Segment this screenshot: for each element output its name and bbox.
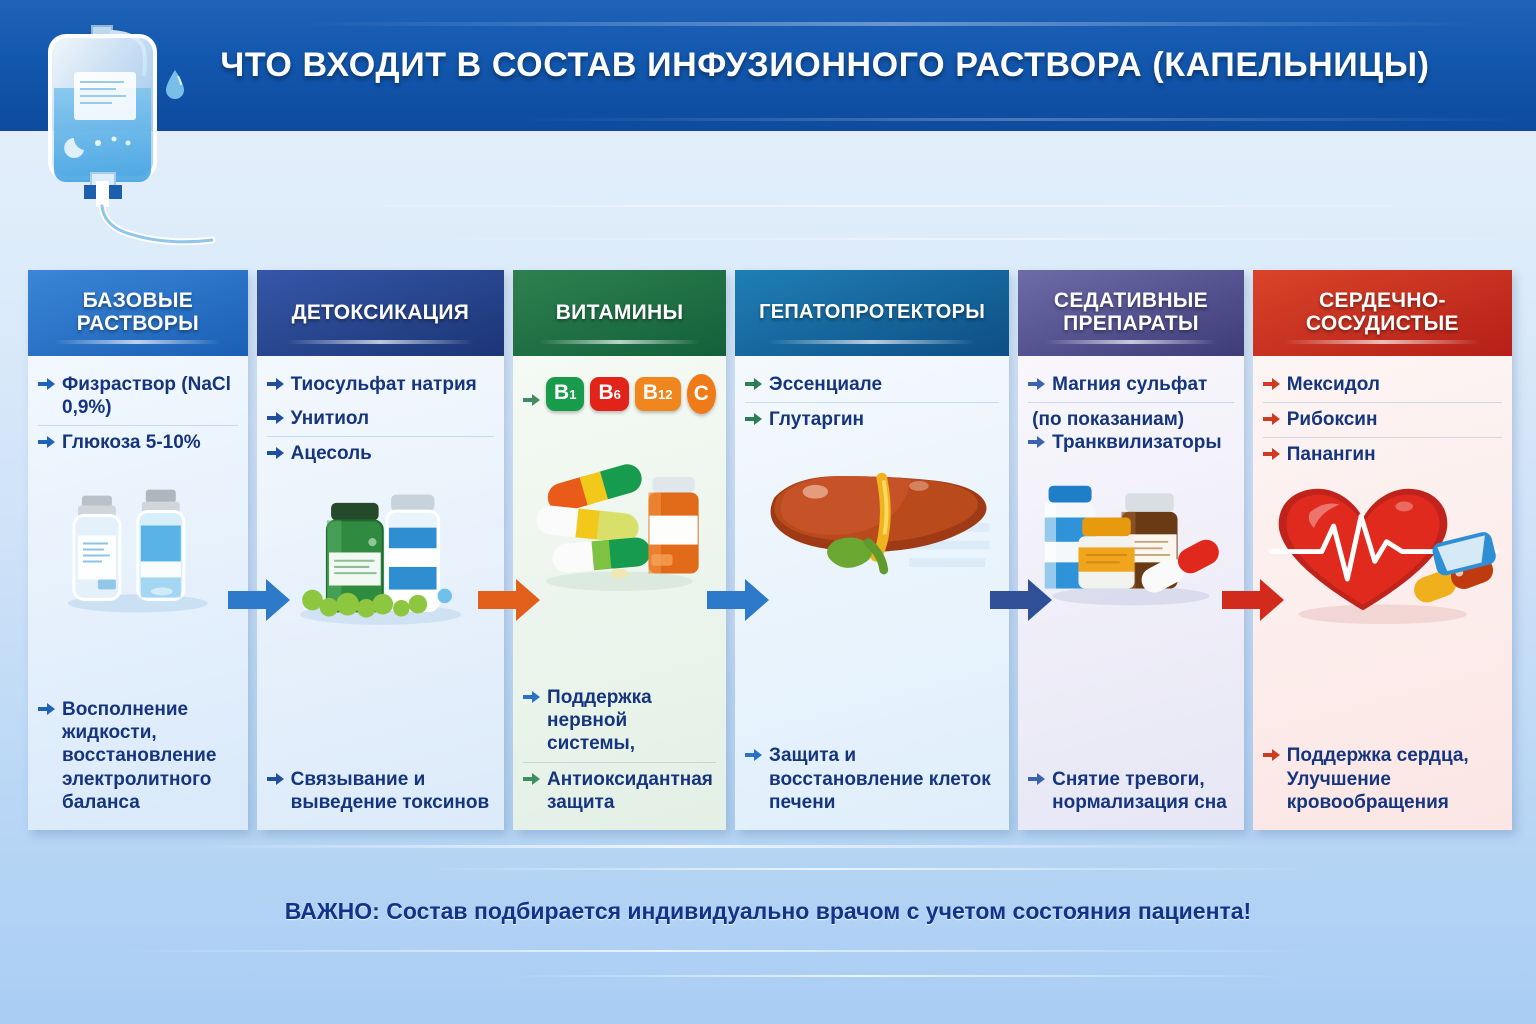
benefit-item: Антиоксидантная защита: [523, 763, 716, 820]
list-item[interactable]: Рибоксин: [1263, 403, 1502, 438]
bullet-arrow-icon: [1263, 377, 1280, 391]
list-item[interactable]: Ацесоль: [267, 437, 494, 471]
list-item[interactable]: Эссенциале: [745, 368, 999, 403]
bullet-arrow-icon: [38, 702, 55, 716]
drug-name: Глюкоза 5-10%: [62, 431, 238, 454]
bullet-arrow-icon: [745, 412, 762, 426]
drug-name: Эссенциале: [769, 373, 999, 396]
card-vitamins[interactable]: ВИТАМИНЫ B1 B6 B12 C: [513, 270, 726, 830]
benefit-list-base-solutions: Восполнение жидкости, восстановление эле…: [38, 693, 238, 820]
vitamin-badge-b6: B6: [590, 377, 628, 411]
drug-name: Панангин: [1287, 443, 1502, 466]
bullet-arrow-icon: [267, 772, 284, 786]
artwork-capsules-and-bottle: [523, 426, 716, 611]
benefit-text: Защита и восстановление клеток печени: [769, 744, 999, 814]
drug-name: Рибоксин: [1287, 408, 1502, 431]
drug-name: Тиосульфат натрия: [291, 373, 494, 396]
drug-name: Унитиол: [291, 407, 494, 430]
benefit-item: Снятие тревоги, нормализация сна: [1028, 763, 1234, 820]
card-base-solutions[interactable]: БАЗОВЫЕ РАСТВОРЫ Физраствор (NaCl 0,9%) …: [28, 270, 248, 830]
benefit-text: Поддержка сердца, Улучшение кровообращен…: [1287, 744, 1502, 814]
list-item[interactable]: Магния сульфат: [1028, 368, 1234, 403]
benefit-text: Поддержка нервной системы,: [547, 686, 716, 756]
benefit-item: Поддержка нервной системы,: [523, 681, 716, 763]
bullet-arrow-icon: [38, 377, 55, 391]
drug-list-sedatives: Магния сульфат (по показаниам) Транквили…: [1028, 368, 1234, 461]
connector-arrow-3: [707, 577, 771, 623]
bullet-arrow-icon: [1028, 772, 1045, 786]
drug-name: Мексидол: [1287, 373, 1502, 396]
list-item[interactable]: Тиосульфат натрия: [267, 368, 494, 402]
bullet-arrow-icon: [267, 377, 284, 391]
vitamin-badge-b12: B12: [635, 377, 681, 411]
benefit-list-detox: Связывание и выведение токсинов: [267, 763, 494, 820]
benefit-item: Защита и восстановление клеток печени: [745, 739, 999, 820]
vitamin-badge-b1: B1: [546, 377, 584, 411]
header-line-2: ПРЕПАРАТЫ: [1054, 313, 1208, 336]
list-item[interactable]: Панангин: [1263, 438, 1502, 472]
benefit-item: Связывание и выведение токсинов: [267, 763, 494, 820]
artwork-pill-bottles-capsule: [1028, 465, 1234, 613]
bullet-arrow-icon: [267, 411, 284, 425]
card-body-vitamins: B1 B6 B12 C: [513, 356, 726, 830]
bullet-arrow-icon: [745, 748, 762, 762]
footer-note: ВАЖНО: Состав подбирается индивидуально …: [0, 888, 1536, 934]
list-item[interactable]: Физраствор (NaCl 0,9%): [38, 368, 238, 426]
artwork-liver: [745, 441, 999, 609]
card-hepatoprotectors[interactable]: ГЕПАТОПРОТЕКТОРЫ Эссенциале Глутаргин: [735, 270, 1009, 830]
connector-arrow-5: [1222, 577, 1286, 623]
list-item-note: (по показаниам): [1028, 403, 1234, 431]
drug-name: Магния сульфат: [1052, 373, 1234, 396]
list-item[interactable]: Мексидол: [1263, 368, 1502, 403]
connector-arrow-2: [478, 577, 542, 623]
header-line-1: ДЕТОКСИКАЦИЯ: [292, 302, 470, 325]
bullet-arrow-icon: [267, 446, 284, 460]
header-line-2: РАСТВОРЫ: [77, 313, 199, 336]
drug-list-base-solutions: Физраствор (NaCl 0,9%) Глюкоза 5-10%: [38, 368, 238, 461]
drug-list-hepatoprotectors: Эссенциале Глутаргин: [745, 368, 999, 437]
card-header-hepatoprotectors: ГЕПАТОПРОТЕКТОРЫ: [735, 270, 1009, 356]
card-body-hepatoprotectors: Эссенциале Глутаргин: [735, 356, 1009, 830]
card-detox[interactable]: ДЕТОКСИКАЦИЯ Тиосульфат натрия Унитиол А…: [257, 270, 504, 830]
card-body-cardiovascular: Мексидол Рибоксин Панангин: [1253, 356, 1512, 830]
benefit-list-sedatives: Снятие тревоги, нормализация сна: [1028, 763, 1234, 820]
card-header-detox: ДЕТОКСИКАЦИЯ: [257, 270, 504, 356]
bullet-arrow-icon: [1028, 435, 1045, 449]
drug-list-detox: Тиосульфат натрия Унитиол Ацесоль: [267, 368, 494, 472]
benefit-text: Снятие тревоги, нормализация сна: [1052, 768, 1234, 814]
card-header-vitamins: ВИТАМИНЫ: [513, 270, 726, 356]
artwork-two-glass-vials: [38, 465, 238, 620]
drug-name: Физраствор (NaCl 0,9%): [62, 373, 238, 419]
benefit-text: Восполнение жидкости, восстановление эле…: [62, 698, 238, 814]
bullet-arrow-icon: [745, 377, 762, 391]
header-line-2: СОСУДИСТЫЕ: [1306, 313, 1459, 336]
connector-arrow-1: [228, 577, 292, 623]
header-line-1: ВИТАМИНЫ: [556, 302, 684, 325]
header-banner: ЧТО ВХОДИТ В СОСТАВ ИНФУЗИОННОГО РАСТВОР…: [0, 0, 1536, 131]
list-item[interactable]: Транквилизаторы: [1028, 431, 1234, 460]
category-cards-row: БАЗОВЫЕ РАСТВОРЫ Физраствор (NaCl 0,9%) …: [28, 270, 1512, 830]
card-sedatives[interactable]: СЕДАТИВНЫЕ ПРЕПАРАТЫ Магния сульфат (по …: [1018, 270, 1244, 830]
card-body-detox: Тиосульфат натрия Унитиол Ацесоль: [257, 356, 504, 830]
card-cardiovascular[interactable]: СЕРДЕЧНО- СОСУДИСТЫЕ Мексидол Рибоксин П…: [1253, 270, 1512, 830]
card-header-cardiovascular: СЕРДЕЧНО- СОСУДИСТЫЕ: [1253, 270, 1512, 356]
benefit-list-cardiovascular: Поддержка сердца, Улучшение кровообращен…: [1263, 739, 1502, 820]
drug-name: Транквилизаторы: [1052, 431, 1234, 454]
header-line-1: БАЗОВЫЕ: [77, 290, 199, 313]
benefit-list-vitamins: Поддержка нервной системы, Антиоксидантн…: [523, 681, 716, 820]
benefit-text: Связывание и выведение токсинов: [291, 768, 494, 814]
iv-drip-bag-icon: [16, 10, 216, 270]
list-item[interactable]: Унитиол: [267, 402, 494, 437]
benefit-item: Восполнение жидкости, восстановление эле…: [38, 693, 238, 820]
card-body-base-solutions: Физраствор (NaCl 0,9%) Глюкоза 5-10%: [28, 356, 248, 830]
page-title: ЧТО ВХОДИТ В СОСТАВ ИНФУЗИОННОГО РАСТВОР…: [200, 0, 1450, 131]
card-header-sedatives: СЕДАТИВНЫЕ ПРЕПАРАТЫ: [1018, 270, 1244, 356]
bullet-arrow-icon: [38, 435, 55, 449]
header-line-1: ГЕПАТОПРОТЕКТОРЫ: [759, 302, 985, 324]
bullet-arrow-icon: [1263, 447, 1280, 461]
header-line-1: СЕДАТИВНЫЕ: [1054, 290, 1208, 313]
header-line-1: СЕРДЕЧНО-: [1306, 290, 1459, 313]
bullet-arrow-icon: [1263, 412, 1280, 426]
benefit-text: Антиоксидантная защита: [547, 768, 716, 814]
list-item[interactable]: Глюкоза 5-10%: [38, 426, 238, 460]
drug-name: Ацесоль: [291, 442, 494, 465]
bullet-arrow-icon: [523, 393, 540, 407]
bullet-arrow-icon: [1263, 748, 1280, 762]
drug-list-cardiovascular: Мексидол Рибоксин Панангин: [1263, 368, 1502, 473]
note-text: (по показаниам): [1028, 408, 1234, 431]
drug-name: Глутаргин: [769, 408, 999, 431]
connector-arrow-4: [990, 577, 1054, 623]
benefit-list-hepatoprotectors: Защита и восстановление клеток печени: [745, 739, 999, 820]
vitamin-badges: B1 B6 B12 C: [523, 368, 716, 422]
artwork-heart-ecg-pills: [1263, 477, 1502, 629]
vitamin-badge-c: C: [687, 374, 717, 414]
list-item[interactable]: Глутаргин: [745, 403, 999, 437]
bullet-arrow-icon: [523, 690, 540, 704]
bullet-arrow-icon: [1028, 377, 1045, 391]
artwork-green-blue-bottles: [267, 476, 494, 631]
benefit-item: Поддержка сердца, Улучшение кровообращен…: [1263, 739, 1502, 820]
card-header-base-solutions: БАЗОВЫЕ РАСТВОРЫ: [28, 270, 248, 356]
bullet-arrow-icon: [523, 772, 540, 786]
